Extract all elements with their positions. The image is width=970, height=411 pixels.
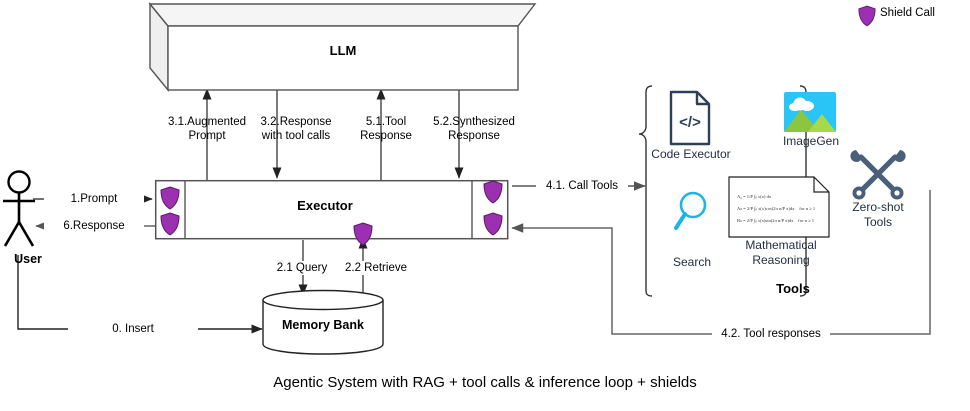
tool-label-code-executor: Code Executor xyxy=(650,147,732,162)
shield-icon xyxy=(160,186,180,210)
diagram-caption: Agentic System with RAG + tool calls & i… xyxy=(0,374,970,391)
memory-bank-label: Memory Bank xyxy=(258,318,388,332)
user-actor[interactable] xyxy=(2,170,54,252)
executor-label: Executor xyxy=(180,198,470,213)
edge-label-tool-responses: 4.2. Tool responses xyxy=(712,327,830,341)
edge-label-prompt: 1.Prompt xyxy=(44,192,144,206)
shield-icon xyxy=(160,212,180,236)
shield-icon xyxy=(483,180,503,204)
tool-label-zero-shot-tools: Zero-shot Tools xyxy=(838,200,918,229)
edge-label-insert: 0. Insert xyxy=(68,322,198,336)
edge-label-retrieve: 2.2 Retrieve xyxy=(330,261,422,275)
legend-label: Shield Call xyxy=(880,7,935,19)
edge-label-call-tools: 4.1. Call Tools xyxy=(536,179,628,193)
formula-document-icon: A₀ = 1/P ∫ₚ s(x) dx Aₙ = 2/P ∫ₚ s(x)cos(… xyxy=(728,176,830,238)
tool-label-mathematical-reasoning: Mathematical Reasoning xyxy=(722,238,840,267)
llm-label: LLM xyxy=(168,43,518,58)
tool-label-search: Search xyxy=(660,255,724,270)
edge-label-tool-response: 5.1.Tool Response xyxy=(345,115,427,143)
crossed-wrenches-icon xyxy=(850,146,906,202)
user-label: User xyxy=(2,252,54,266)
code-file-icon: </> xyxy=(668,90,712,146)
edge-label-synthesized-response: 5.2.Synthesized Response xyxy=(420,115,528,143)
edge-label-response-tool-calls: 3.2.Response with tool calls xyxy=(235,115,357,143)
magnifier-icon xyxy=(673,190,711,232)
legend-shield-icon xyxy=(858,5,876,27)
shield-icon xyxy=(483,212,503,236)
image-icon xyxy=(784,92,836,132)
edge-label-response: 6.Response xyxy=(44,219,144,233)
shield-icon xyxy=(353,222,373,246)
svg-text:</>: </> xyxy=(679,114,701,131)
tools-group-label: Tools xyxy=(718,281,868,296)
tool-label-imagegen: ImageGen xyxy=(768,134,854,149)
